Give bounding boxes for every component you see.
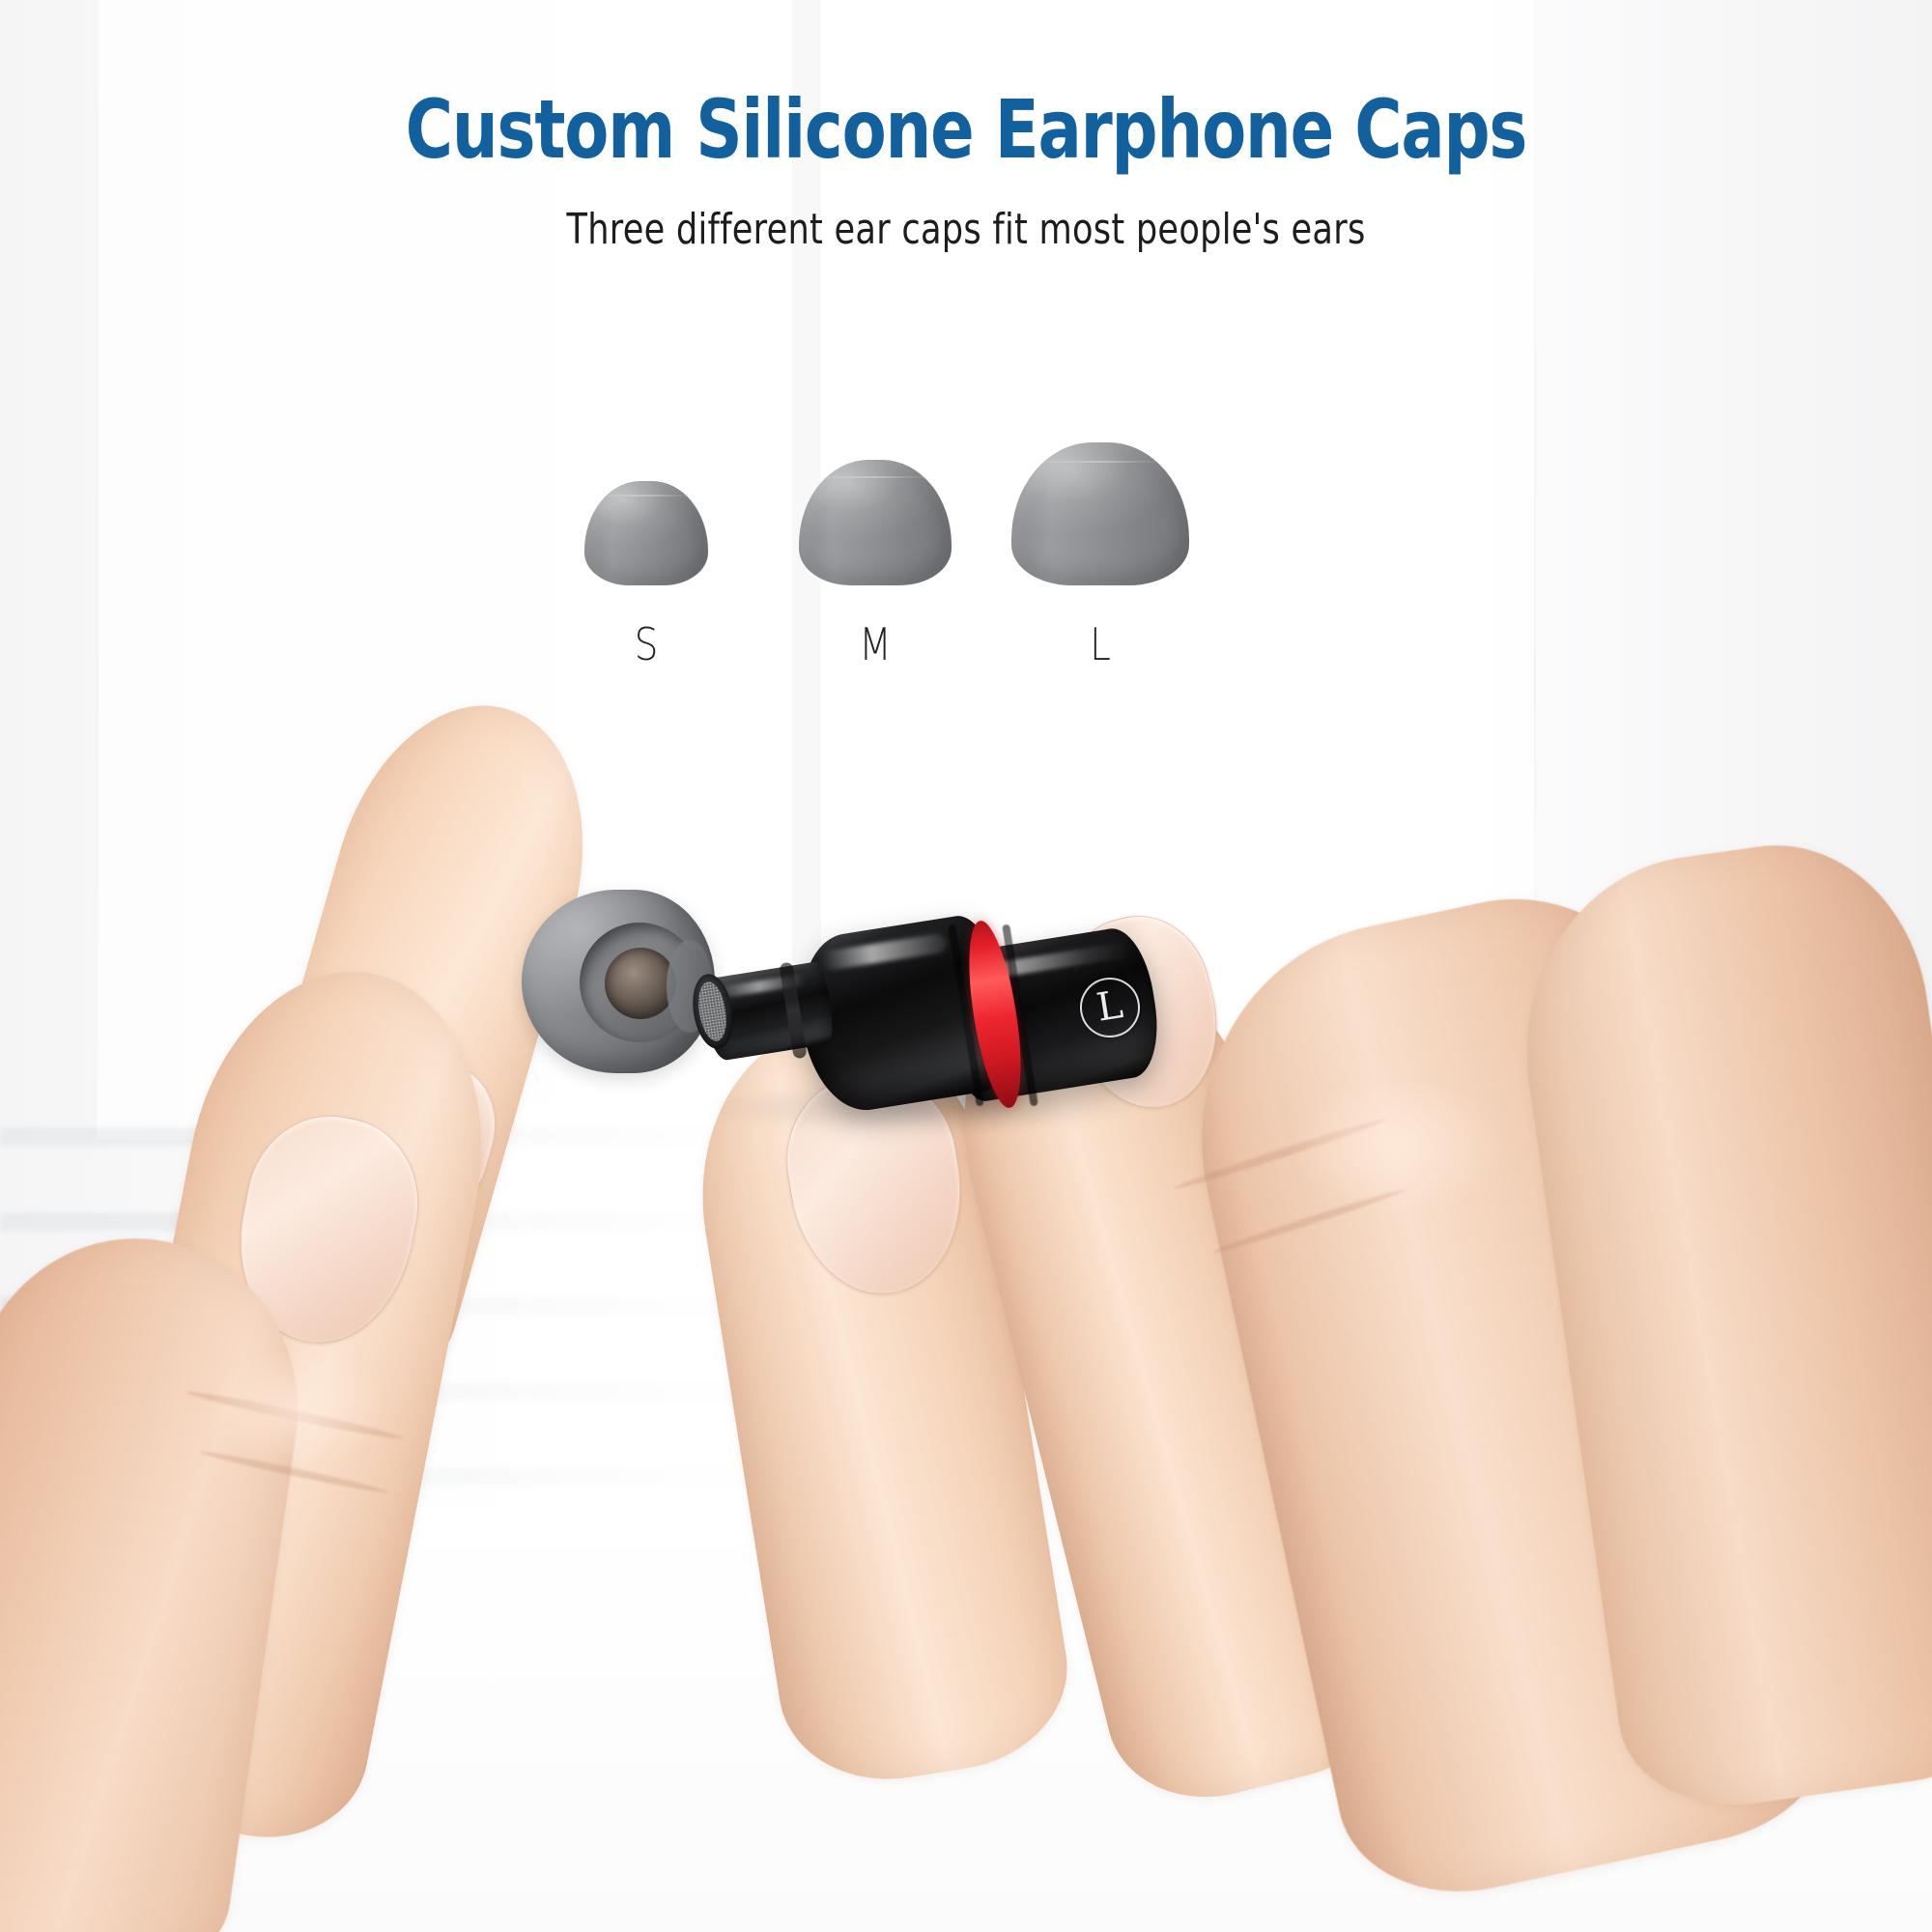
ear-cap-icon-medium [799,460,952,585]
page-title: Custom Silicone Earphone Caps [193,89,1739,170]
product-marketing-canvas: Custom Silicone Earphone Caps Three diff… [0,0,1932,1932]
ear-cap-icon-large [1011,442,1189,585]
ear-cap-swatch-medium: M [798,460,952,670]
product-photo: L [0,734,1932,1932]
earphone-unit: L [667,869,1207,1159]
ear-cap-size-swatches: S M L [0,437,1932,688]
ear-cap-label-medium: M [810,618,941,670]
ear-cap-swatch-large: L [1010,442,1190,670]
ear-cap-label-small: S [593,618,700,670]
page-subtitle: Three different ear caps fit most people… [193,205,1739,254]
ear-cap-swatch-small: S [583,481,709,670]
ear-cap-icon-small [584,481,708,585]
header-block: Custom Silicone Earphone Caps Three diff… [0,89,1932,254]
held-ear-cap-bore [605,948,676,1019]
left-hand-knuckle [203,1352,415,1507]
ear-cap-label-large: L [1024,618,1177,670]
right-hand-knuckle [1285,1082,1536,1265]
channel-marking-letter: L [1094,985,1125,1028]
